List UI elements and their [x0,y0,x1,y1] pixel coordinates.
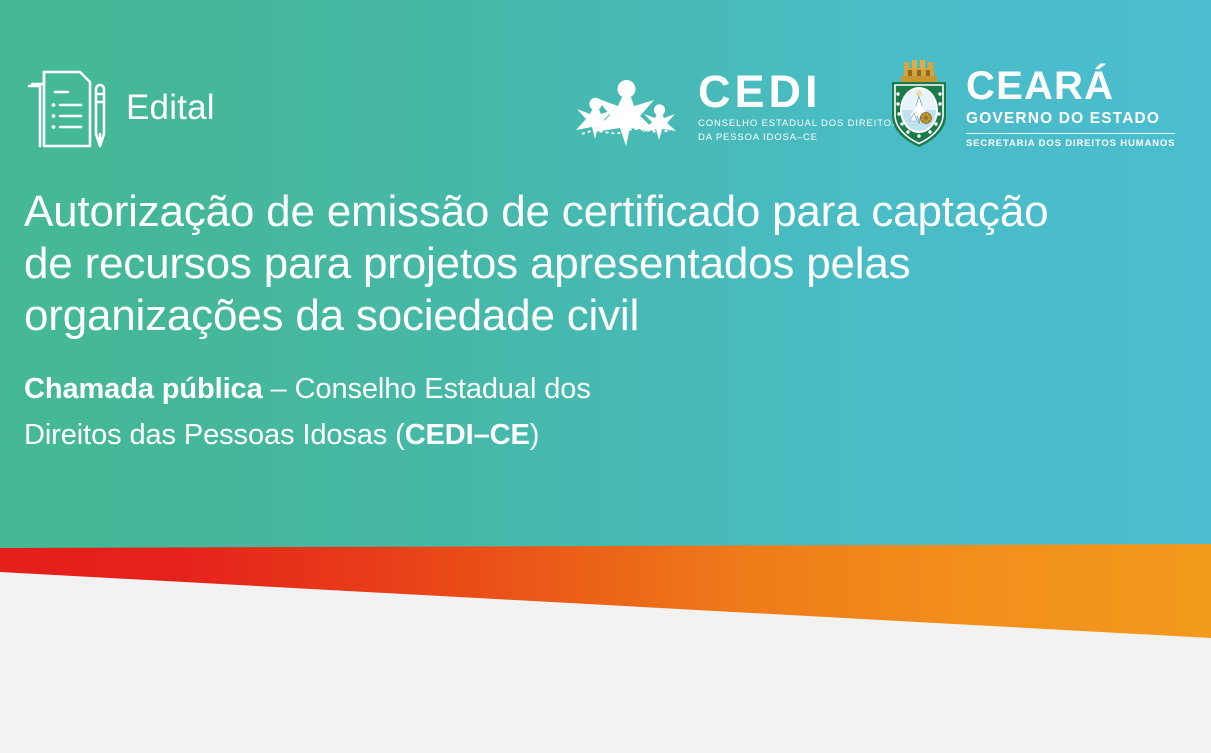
ceara-government-line: GOVERNO DO ESTADO [966,109,1175,129]
headline-line-2: de recursos para projetos apresentados p… [24,238,1189,290]
ceara-secretariat-line: SECRETARIA DOS DIREITOS HUMANOS [966,138,1175,149]
cedi-subtitle-line1: CONSELHO ESTADUAL DOS DIREITOS [698,117,899,130]
subtitle-mid: – Conselho Estadual dos [263,373,591,405]
cedi-acronym: CEDI [698,70,899,113]
subtitle-line2-bold: CEDI–CE [405,419,530,451]
edital-label: Edital [126,90,215,127]
headline-line-1: Autorização de emissão de certificado pa… [24,186,1189,238]
subtitle-bold-lead: Chamada pública [24,373,263,405]
cedi-subtitle-line2: DA PESSOA IDOSA–CE [698,131,899,144]
three-star-people-icon [568,76,686,148]
edital-badge: Edital [24,62,215,154]
ceara-logo: CEARÁ GOVERNO DO ESTADO SECRETARIA DOS D… [886,58,1175,150]
subtitle-line2-tail: ) [530,419,540,451]
cedi-logo: CEDI CONSELHO ESTADUAL DOS DIREITOS DA P… [568,68,899,148]
ceara-divider [966,133,1175,134]
edital-banner: Edital CEDI CONSELHO [0,0,1211,753]
diagonal-color-wedge [0,540,1211,650]
headline-line-3: organizações da sociedade civil [24,290,1189,342]
page-subtitle: Chamada pública – Conselho Estadual dos … [24,366,844,458]
header-row: Edital CEDI CONSELHO [0,0,1211,175]
ceara-coat-of-arms-icon [886,58,952,150]
wedge-svg [0,540,1211,650]
subtitle-line-2: Direitos das Pessoas Idosas (CEDI–CE) [24,412,844,458]
page-title: Autorização de emissão de certificado pa… [24,186,1189,342]
subtitle-line-1: Chamada pública – Conselho Estadual dos [24,366,844,412]
ceara-text-block: CEARÁ GOVERNO DO ESTADO SECRETARIA DOS D… [966,58,1175,150]
ceara-wordmark: CEARÁ [966,66,1175,106]
document-pen-icon [24,62,110,154]
cedi-text-block: CEDI CONSELHO ESTADUAL DOS DIREITOS DA P… [698,68,899,144]
subtitle-line2-plain: Direitos das Pessoas Idosas ( [24,419,405,451]
